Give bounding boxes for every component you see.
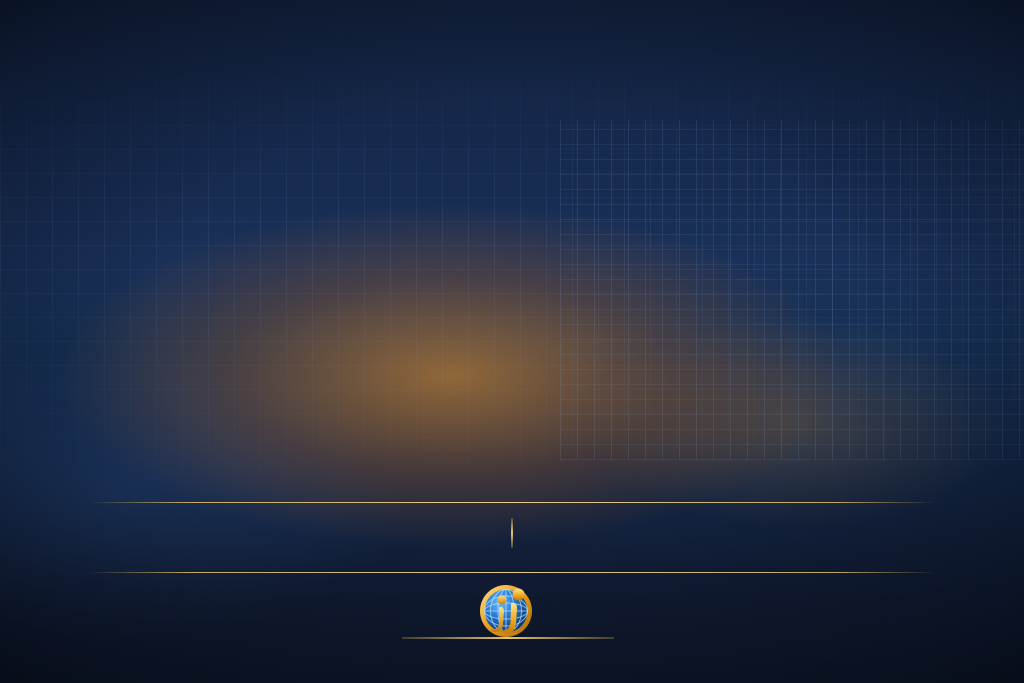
poster-canvas [0,0,1024,683]
globe-icon [478,583,534,639]
ticker-row [0,518,1024,548]
ticker-divider [511,518,513,548]
brand-logo[interactable] [0,583,1024,639]
logo-underline [402,637,614,639]
divider-rule-bottom [88,572,936,573]
divider-rule-top [88,502,936,503]
arrow-trend-line [0,0,1024,683]
